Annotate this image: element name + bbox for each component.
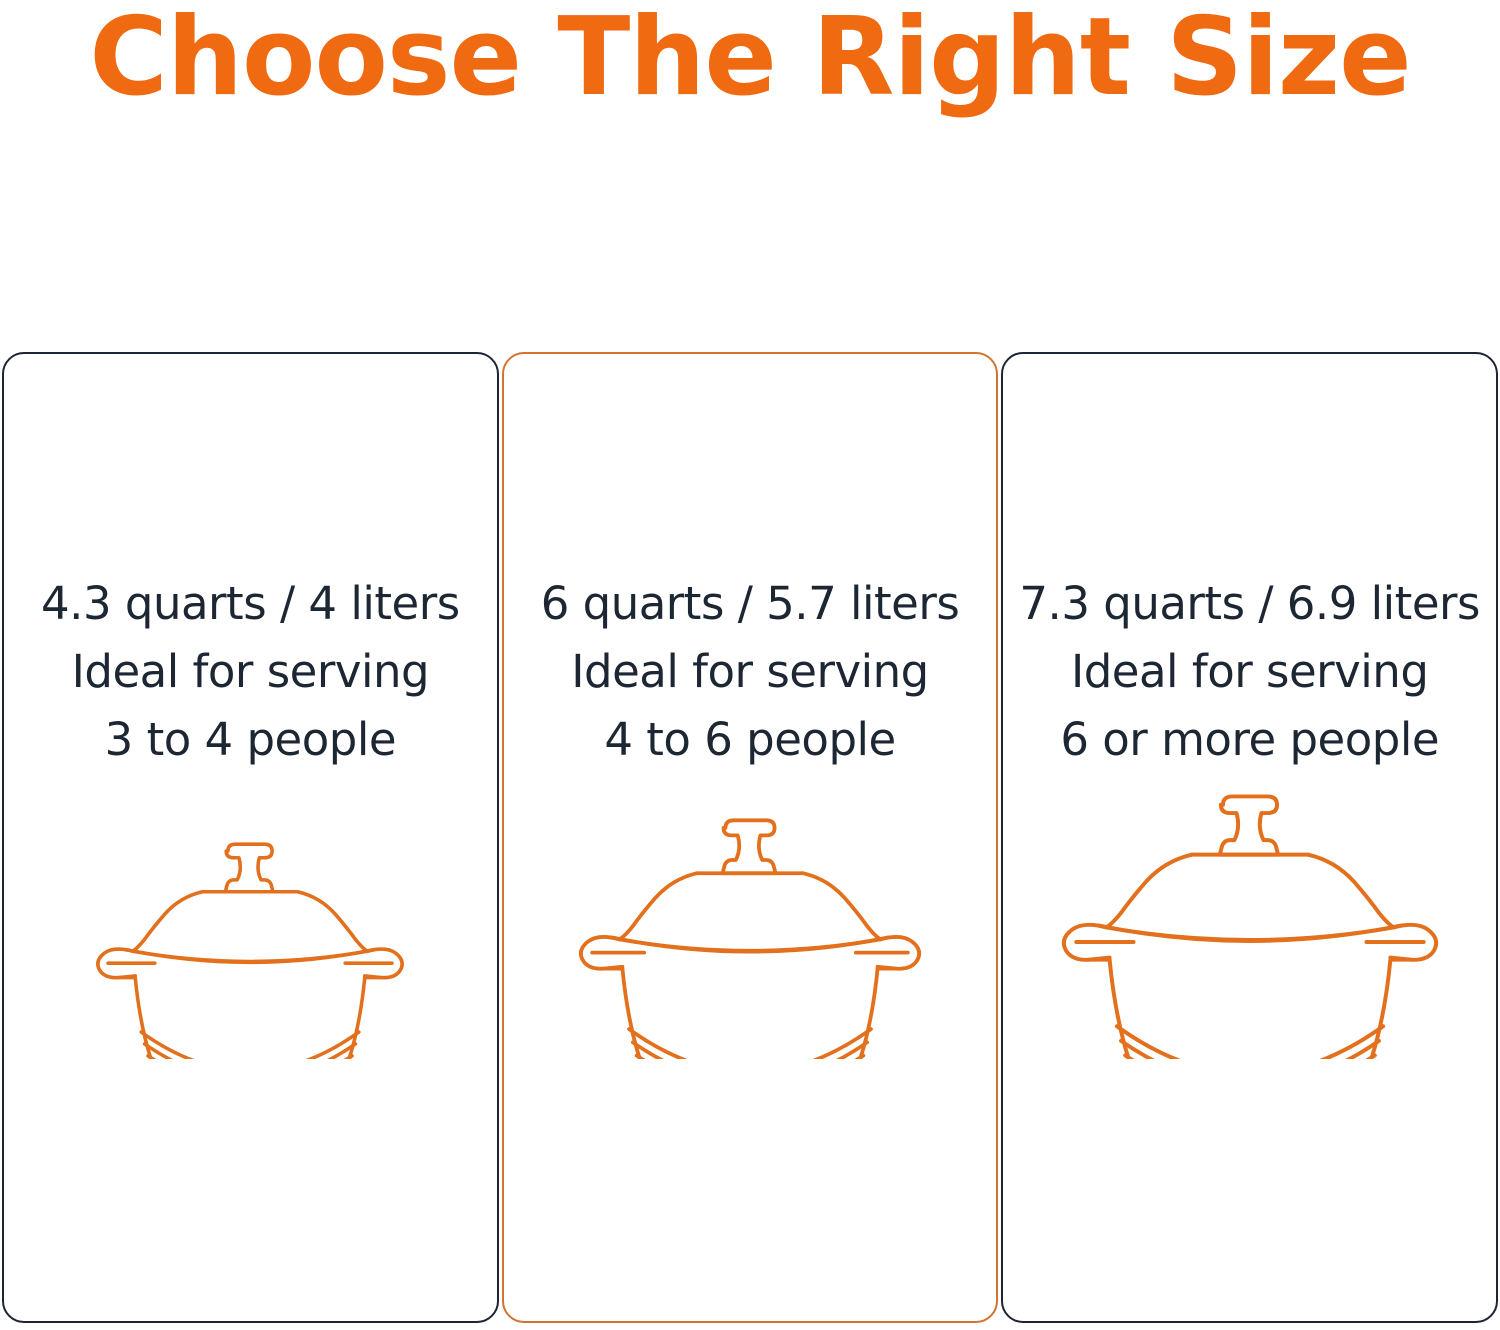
serving-label: Ideal for serving: [4, 638, 497, 706]
dutch-oven-pot-icon: [1042, 772, 1458, 1059]
pot-illustration-wrap-medium: [504, 759, 997, 1059]
page-title: Choose The Right Size: [8, 0, 1493, 115]
size-card-small-text: 4.3 quarts / 4 liters Ideal for serving …: [4, 570, 497, 774]
dutch-oven-pot-icon: [561, 798, 939, 1059]
size-card-medium-text: 6 quarts / 5.7 liters Ideal for serving …: [504, 570, 997, 774]
pot-illustration-wrap-small: [4, 759, 497, 1059]
capacity-label: 6 quarts / 5.7 liters: [504, 570, 997, 638]
serving-label: Ideal for serving: [1003, 638, 1496, 706]
pot-illustration-wrap-large: [1003, 759, 1496, 1059]
serving-label: Ideal for serving: [504, 638, 997, 706]
dutch-oven-pot-icon: [80, 824, 420, 1059]
size-card-large[interactable]: 7.3 quarts / 6.9 liters Ideal for servin…: [1001, 352, 1498, 1323]
size-card-medium[interactable]: 6 quarts / 5.7 liters Ideal for serving …: [502, 352, 999, 1323]
capacity-label: 4.3 quarts / 4 liters: [4, 570, 497, 638]
size-card-large-text: 7.3 quarts / 6.9 liters Ideal for servin…: [1003, 570, 1496, 774]
capacity-label: 7.3 quarts / 6.9 liters: [1003, 570, 1496, 638]
size-card-small[interactable]: 4.3 quarts / 4 liters Ideal for serving …: [2, 352, 499, 1323]
size-cards-row: 4.3 quarts / 4 liters Ideal for serving …: [2, 352, 1498, 1323]
